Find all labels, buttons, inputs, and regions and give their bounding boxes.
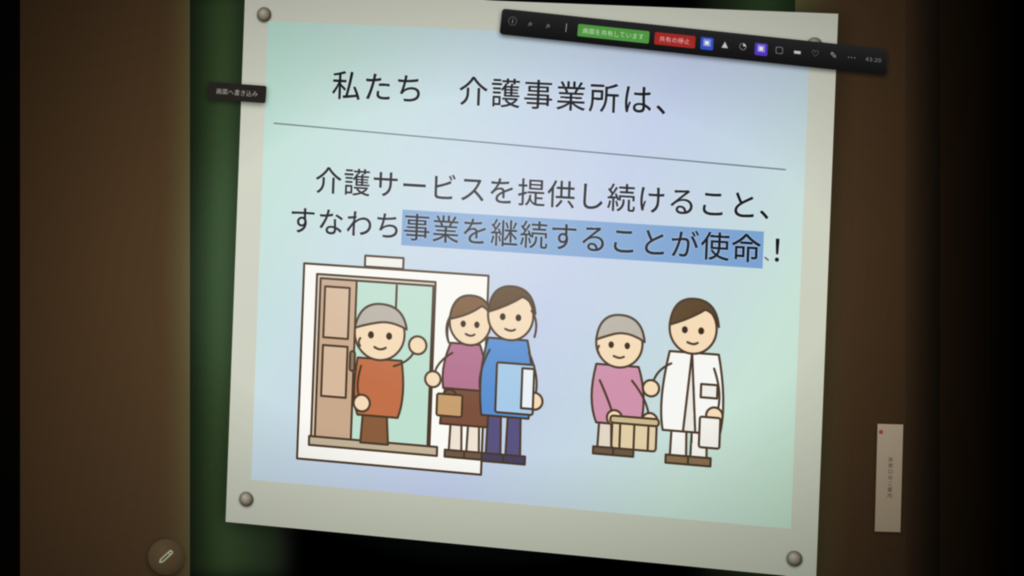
whiteboard-button[interactable]: ▬ (790, 46, 804, 60)
more-button[interactable]: ⋯ (845, 51, 858, 65)
wall-notice: 非常口のご案内 (875, 424, 904, 533)
wall-notice-pin (879, 430, 883, 434)
slide-body-prefix: すなわち (288, 204, 403, 245)
record-button[interactable]: ▢ (772, 44, 786, 58)
wall-notice-text: 非常口のご案内 (885, 457, 894, 499)
participants-button[interactable]: ▲ (718, 38, 732, 52)
zoom-in-icon[interactable]: ⌕ (523, 17, 537, 31)
home-care-visit-clipart: .ol{stroke:#4a3a2c;stroke-width:2;stroke… (287, 245, 759, 513)
meeting-timer: 43:20 (865, 57, 881, 65)
info-icon[interactable]: ⓘ (505, 16, 519, 30)
screen-grommet-bottom-left (239, 491, 253, 507)
reactions-button[interactable]: ♡ (809, 48, 823, 62)
zoom-out-icon[interactable]: ⌕ (541, 19, 555, 33)
cursor-icon[interactable]: ❘ (559, 21, 573, 35)
slide-stray-mark: 、 (762, 243, 780, 266)
screen-grommet-bottom-right (786, 550, 802, 567)
share-screen-button[interactable]: ▣ (754, 42, 768, 56)
screen-grommet-top-left (257, 7, 272, 22)
sharing-status-badge: 画面を共有しています (577, 23, 650, 43)
video-button[interactable]: ▣ (700, 36, 714, 50)
pen-icon (157, 548, 176, 567)
stop-share-button[interactable]: 共有の停止 (654, 31, 696, 48)
annotate-button[interactable]: ✎ (827, 49, 841, 63)
chat-button[interactable]: ◔ (736, 40, 750, 54)
projected-slide: 私たち 介護事業所は、 介護サービスを提供し続けること、 すなわち事業を継続する… (251, 21, 810, 529)
photo-scene: 私たち 介護事業所は、 介護サービスを提供し続けること、 すなわち事業を継続する… (0, 0, 1024, 576)
